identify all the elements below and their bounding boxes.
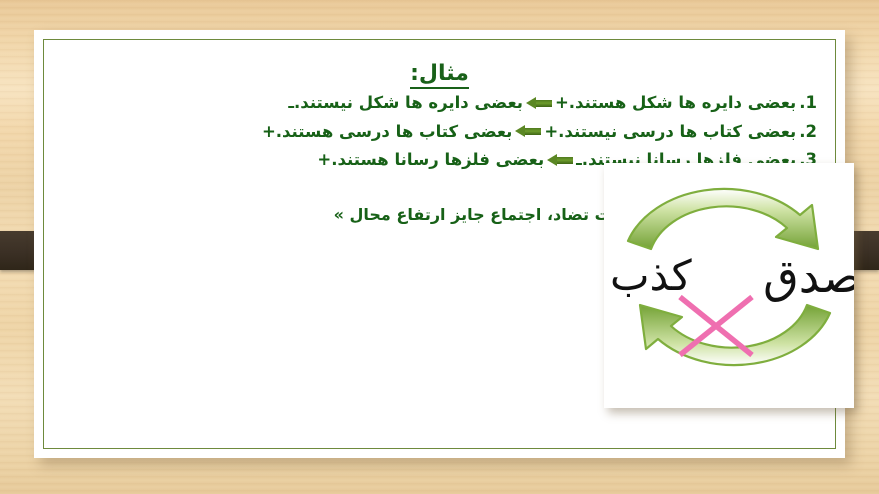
statement-number: 1. xyxy=(799,95,817,112)
slide-content: مثال: 1. بعضی دایره ها شکل هستند.+ بعضی … xyxy=(56,50,823,438)
left-block-arrow-icon xyxy=(547,154,573,167)
statement-left-clause: بعضی فلزها رسانا هستند.+ xyxy=(317,152,544,169)
statement-list: 1. بعضی دایره ها شکل هستند.+ بعضی دایره … xyxy=(56,95,823,169)
statement-row: 1. بعضی دایره ها شکل هستند.+ بعضی دایره … xyxy=(56,95,817,112)
green-curved-arrow-top xyxy=(628,189,818,249)
slide-content-panel: مثال: 1. بعضی دایره ها شکل هستند.+ بعضی … xyxy=(34,30,845,458)
left-block-arrow-icon xyxy=(515,125,541,138)
statement-number: 2. xyxy=(799,124,817,141)
statement-right-clause: بعضی کتاب ها درسی نیستند.+ xyxy=(544,124,796,141)
statement-left-clause: بعضی دایره ها شکل نیستند.ـ xyxy=(288,95,523,112)
page-title: مثال: xyxy=(56,62,823,86)
statement-left-clause: بعضی کتاب ها درسی هستند.+ xyxy=(262,124,512,141)
sedgh-kazb-cycle-diagram: صدق کذب xyxy=(604,163,854,408)
left-block-arrow-icon xyxy=(526,97,552,110)
statement-row: 2. بعضی کتاب ها درسی نیستند.+ بعضی کتاب … xyxy=(56,124,817,141)
page-title-text: مثال: xyxy=(410,61,469,89)
statement-right-clause: بعضی دایره ها شکل هستند.+ xyxy=(555,95,796,112)
diagram-label-kazb: کذب xyxy=(610,255,692,297)
slide-canvas: مثال: 1. بعضی دایره ها شکل هستند.+ بعضی … xyxy=(0,0,879,494)
diagram-label-sedgh: صدق xyxy=(763,253,854,299)
